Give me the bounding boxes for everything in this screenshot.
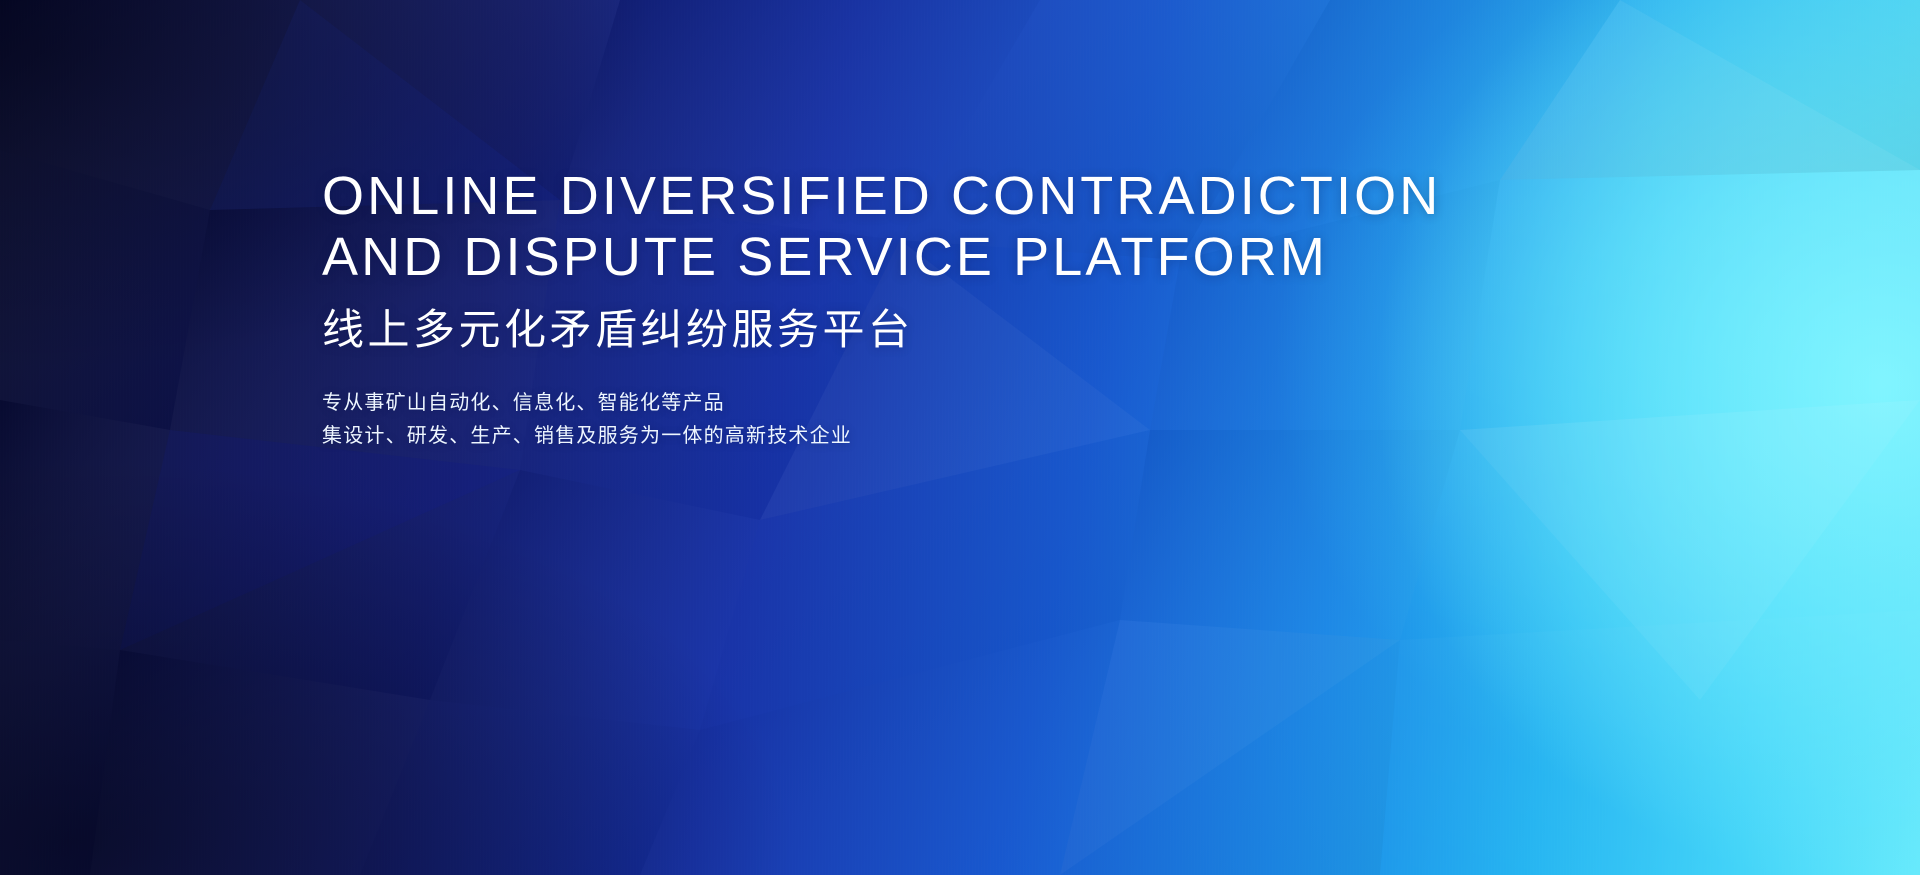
- hero-copy-block: ONLINE DIVERSIFIED CONTRADICTION AND DIS…: [322, 166, 1572, 453]
- hero-description-line-2: 集设计、研发、生产、销售及服务为一体的高新技术企业: [322, 420, 1572, 453]
- hero-headline-line-1: ONLINE DIVERSIFIED CONTRADICTION: [322, 166, 1441, 226]
- hero-description: 专从事矿山自动化、信息化、智能化等产品 集设计、研发、生产、销售及服务为一体的高…: [322, 387, 1572, 453]
- hero-headline-line-2: AND DISPUTE SERVICE PLATFORM: [322, 227, 1572, 288]
- hero-description-line-1: 专从事矿山自动化、信息化、智能化等产品: [322, 387, 1572, 420]
- hero-subheadline-chinese: 线上多元化矛盾纠纷服务平台: [322, 305, 1572, 355]
- hero-headline-english: ONLINE DIVERSIFIED CONTRADICTION AND DIS…: [322, 166, 1572, 288]
- hero-banner: ONLINE DIVERSIFIED CONTRADICTION AND DIS…: [0, 0, 1920, 875]
